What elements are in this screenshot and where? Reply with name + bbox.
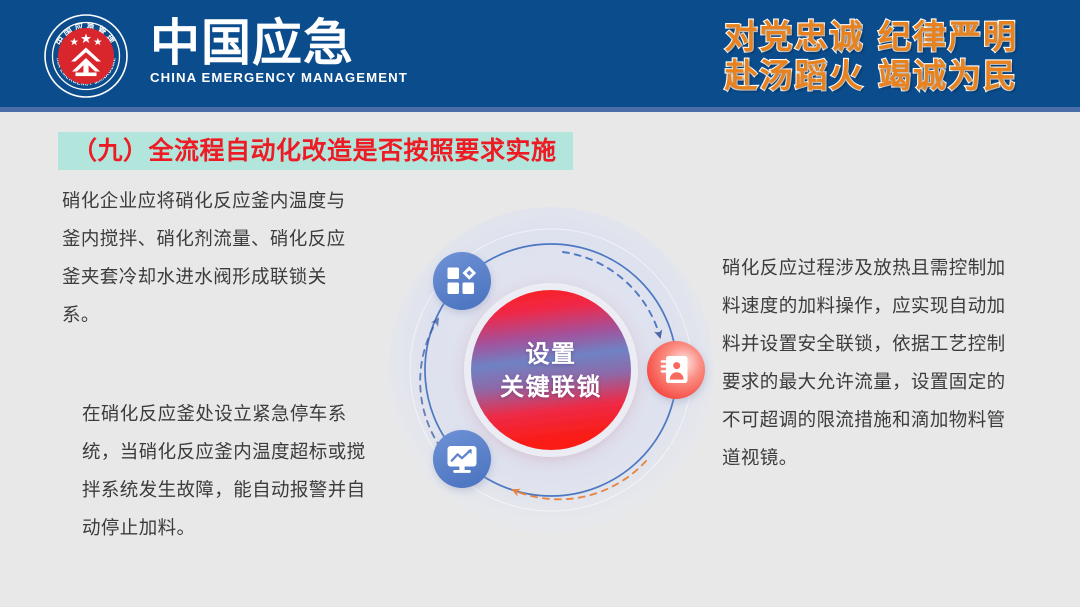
diagram-node-contact-card[interactable] [647,341,705,399]
slide: 中国应急管理 CHINA EMERGENCY MANAGEMENT 中国应急 C… [0,0,1080,607]
wordmark: 中国应急 CHINA EMERGENCY MANAGEMENT [150,14,380,96]
diagram-core [464,283,638,457]
page-title: （九）全流程自动化改造是否按照要求实施 [72,136,557,166]
text-block-top-left: 硝化企业应将硝化反应釜内温度与釜内搅拌、硝化剂流量、硝化反应釜夹套冷却水进水阀形… [62,183,362,335]
text-block-right: 硝化反应过程涉及放热且需控制加料速度的加料操作，应实现自动加料并设置安全联锁，依… [722,250,1022,478]
wordmark-chinese: 中国应急 [150,14,380,72]
diagram-node-dashboard[interactable] [433,252,491,310]
key-interlock-cycle-diagram: 设置 关键联锁 [360,178,742,562]
slogan-line-1: 对党忠诚 纪律严明 [725,17,1019,56]
wordmark-english: CHINA EMERGENCY MANAGEMENT [150,70,380,86]
china-emergency-management-emblem-icon: 中国应急管理 CHINA EMERGENCY MANAGEMENT [44,14,128,98]
slogan-line-2: 赴汤蹈火 竭诚为民 [725,56,1019,95]
header-underline [0,107,1080,112]
diagram-node-monitor[interactable] [433,430,491,488]
text-block-bottom-left: 在硝化反应釜处设立紧急停车系统，当硝化反应釜内温度超标或搅拌系统发生故障，能自动… [82,396,382,548]
section-title-highlight: （九）全流程自动化改造是否按照要求实施 [58,132,573,170]
header-slogan: 对党忠诚 纪律严明 赴汤蹈火 竭诚为民 [725,17,1019,95]
